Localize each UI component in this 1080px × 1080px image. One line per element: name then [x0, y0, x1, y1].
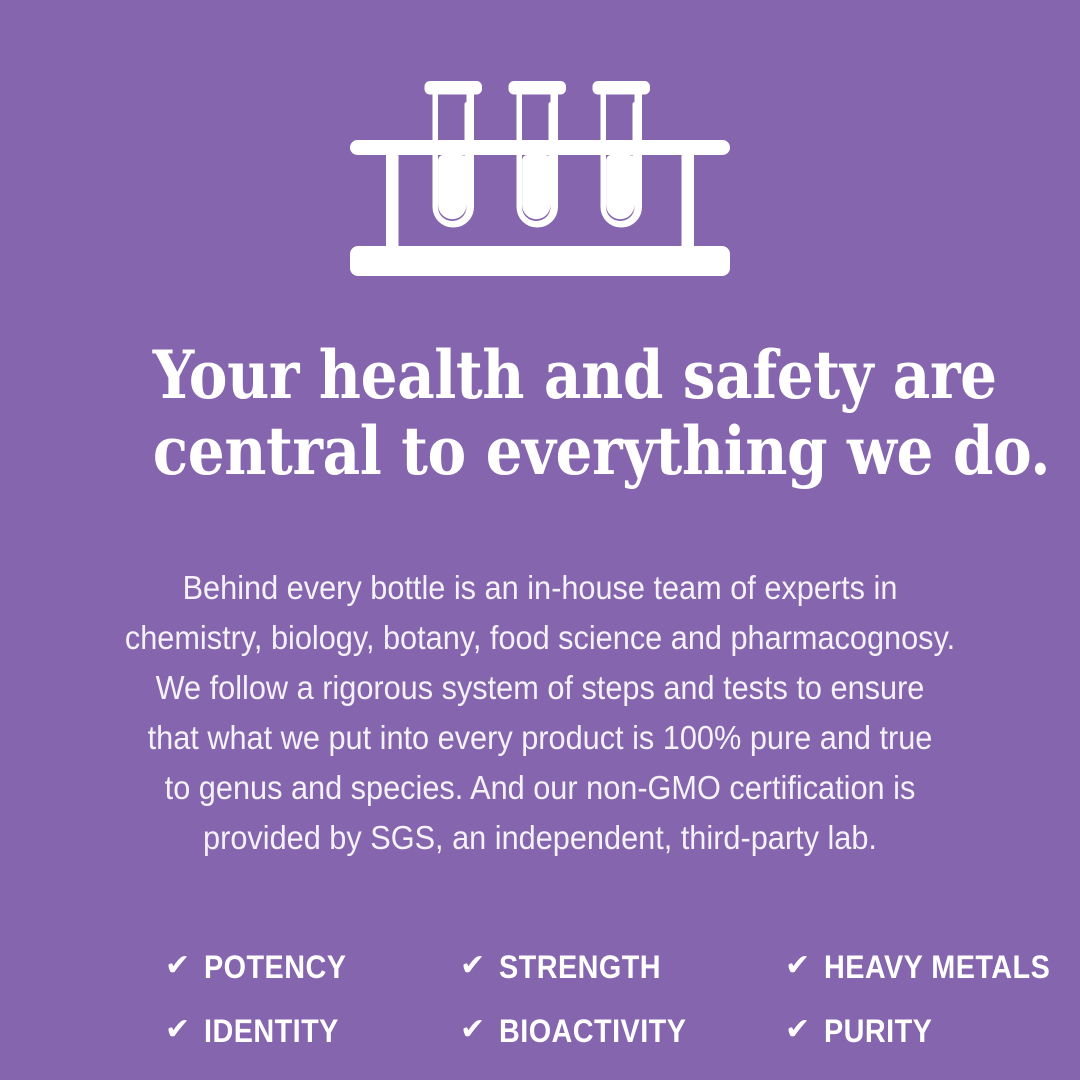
check-icon: ✔	[460, 1015, 485, 1045]
list-item: ✔ POTENCY	[165, 949, 460, 986]
list-item-label: HEAVY METALS	[824, 949, 1050, 986]
body-paragraph: Behind every bottle is an in-house team …	[103, 563, 977, 863]
body-line-2: chemistry, biology, botany, food science…	[103, 613, 977, 663]
testing-attributes-list: ✔ POTENCY ✔ STRENGTH ✔ HEAVY METALS ✔ ID…	[70, 935, 1010, 1063]
list-item-label: IDENTITY	[204, 1013, 339, 1050]
list-item: ✔ BIOACTIVITY	[460, 1013, 785, 1050]
list-item-label: STRENGTH	[499, 949, 661, 986]
test-tube-rack-icon	[335, 70, 745, 285]
body-line-4: that what we put into every product is 1…	[103, 713, 977, 763]
list-item-label: PURITY	[824, 1013, 932, 1050]
heading-line-2: central to everything we do.	[153, 413, 927, 489]
list-item: ✔ STRENGTH	[460, 949, 785, 986]
body-line-6: provided by SGS, an independent, third-p…	[103, 813, 977, 863]
check-icon: ✔	[460, 951, 485, 981]
check-icon: ✔	[165, 951, 190, 981]
list-item-label: BIOACTIVITY	[499, 1013, 686, 1050]
check-icon: ✔	[785, 1015, 810, 1045]
quality-promise-poster: Your health and safety are central to ev…	[0, 0, 1080, 1080]
list-item: ✔ HEAVY METALS	[785, 949, 1080, 986]
list-item: ✔ IDENTITY	[165, 1013, 460, 1050]
body-line-3: We follow a rigorous system of steps and…	[103, 663, 977, 713]
body-line-1: Behind every bottle is an in-house team …	[103, 563, 977, 613]
page-title: Your health and safety are central to ev…	[153, 337, 927, 489]
list-item: ✔ PURITY	[785, 1013, 1080, 1050]
list-item-label: POTENCY	[204, 949, 346, 986]
check-icon: ✔	[165, 1015, 190, 1045]
check-icon: ✔	[785, 951, 810, 981]
body-line-5: to genus and species. And our non-GMO ce…	[103, 763, 977, 813]
heading-line-1: Your health and safety are	[153, 337, 927, 413]
